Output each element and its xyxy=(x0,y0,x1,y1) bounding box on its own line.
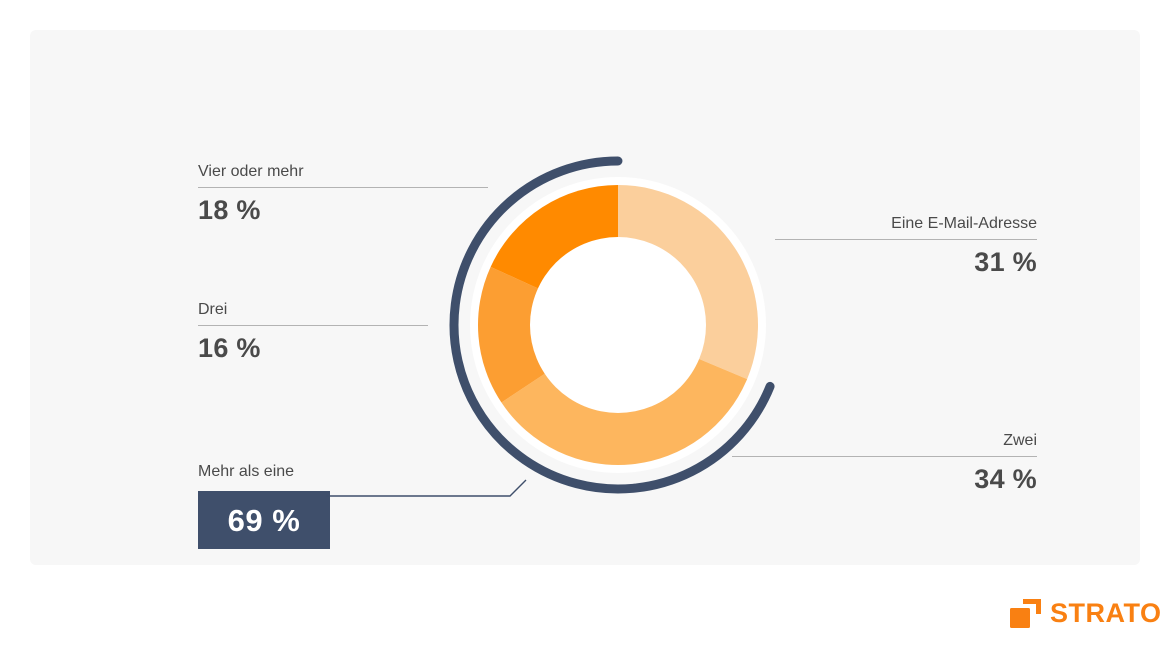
callout-rule xyxy=(775,239,1037,240)
callout-rule xyxy=(198,325,428,326)
callout-rule xyxy=(732,456,1037,457)
donut-hole xyxy=(530,237,706,413)
callout-value: 18 % xyxy=(198,193,488,227)
highlight-leader-line xyxy=(326,470,536,510)
callout-label: Drei xyxy=(198,300,428,320)
callout-mehr-als-eine: Mehr als eine 69 % xyxy=(198,462,330,549)
highlight-value-box: 69 % xyxy=(198,491,330,549)
highlight-callout-value: 69 % xyxy=(228,505,301,536)
callout-drei: Drei 16 % xyxy=(198,300,428,365)
callout-label: Vier oder mehr xyxy=(198,162,488,182)
highlight-callout-label: Mehr als eine xyxy=(198,462,330,482)
callout-value: 31 % xyxy=(775,245,1037,279)
callout-value: 16 % xyxy=(198,331,428,365)
leader-polyline xyxy=(326,480,526,496)
strato-squares-mark-icon xyxy=(1009,597,1045,629)
callout-zwei: Zwei 34 % xyxy=(732,431,1037,496)
callout-rule xyxy=(198,187,488,188)
strato-logo: STRATO xyxy=(1009,594,1162,632)
strato-logo-text: STRATO xyxy=(1050,600,1162,627)
callout-vier-oder-mehr: Vier oder mehr 18 % xyxy=(198,162,488,227)
callout-value: 34 % xyxy=(732,462,1037,496)
callout-label: Eine E-Mail-Adresse xyxy=(775,214,1037,234)
callout-eine-e-mail-adresse: Eine E-Mail-Adresse 31 % xyxy=(775,214,1037,279)
infographic-card: Vier oder mehr 18 % Drei 16 % Eine E-Mai… xyxy=(30,30,1140,565)
callout-label: Zwei xyxy=(732,431,1037,451)
